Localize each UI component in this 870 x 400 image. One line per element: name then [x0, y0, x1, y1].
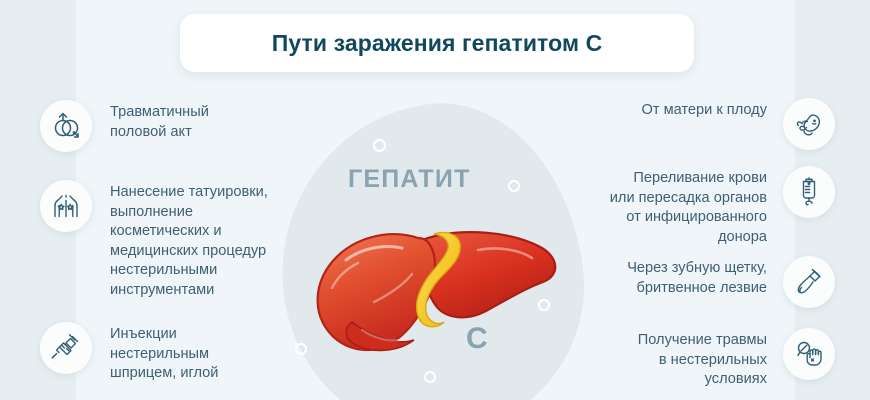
- risk-item-traumatic-intercourse[interactable]: Травматичный половой акт: [40, 100, 209, 152]
- decorative-dot: [295, 343, 307, 355]
- risk-item-injections[interactable]: Инъекции нестерильным шприцем, иглой: [40, 322, 218, 384]
- risk-item-toothbrush-razor[interactable]: Через зубную щетку, бритвенное лезвие: [490, 256, 835, 308]
- toothbrush-icon: [783, 256, 835, 308]
- blood-bag-icon: [783, 166, 835, 218]
- risk-item-label: От матери к плоду: [641, 98, 767, 121]
- fetus-icon: [783, 98, 835, 150]
- decorative-dot: [424, 371, 436, 383]
- risk-item-label: Травматичный половой акт: [110, 100, 209, 142]
- syringe-icon: [40, 322, 92, 374]
- decorative-dot: [373, 139, 386, 152]
- risk-item-label: Получение травмы в нестерильных условиях: [638, 328, 767, 390]
- risk-item-label: Переливание крови или пересадка органов …: [610, 166, 767, 247]
- risk-item-injury-unsterile[interactable]: Получение травмы в нестерильных условиях: [490, 328, 835, 390]
- risk-item-blood-transfusion[interactable]: Переливание крови или пересадка органов …: [490, 166, 835, 247]
- center-label-hepatitis: ГЕПАТИТ: [348, 165, 471, 194]
- title-card: Пути заражения гепатитом С: [180, 14, 694, 72]
- page-title: Пути заражения гепатитом С: [272, 30, 603, 57]
- gender-symbols-icon: [40, 100, 92, 152]
- risk-item-mother-to-fetus[interactable]: От матери к плоду: [490, 98, 835, 150]
- tattoo-body-icon: [40, 180, 92, 232]
- risk-item-label: Инъекции нестерильным шприцем, иглой: [110, 322, 218, 384]
- risk-item-label: Нанесение татуировки, выполнение космети…: [110, 180, 268, 300]
- risk-item-label: Через зубную щетку, бритвенное лезвие: [627, 256, 767, 298]
- risk-item-tattoo-procedures[interactable]: Нанесение татуировки, выполнение космети…: [40, 180, 268, 300]
- injured-hand-icon: [783, 328, 835, 380]
- infographic-root: Пути заражения гепатитом С ГЕПАТИТ C: [0, 0, 870, 400]
